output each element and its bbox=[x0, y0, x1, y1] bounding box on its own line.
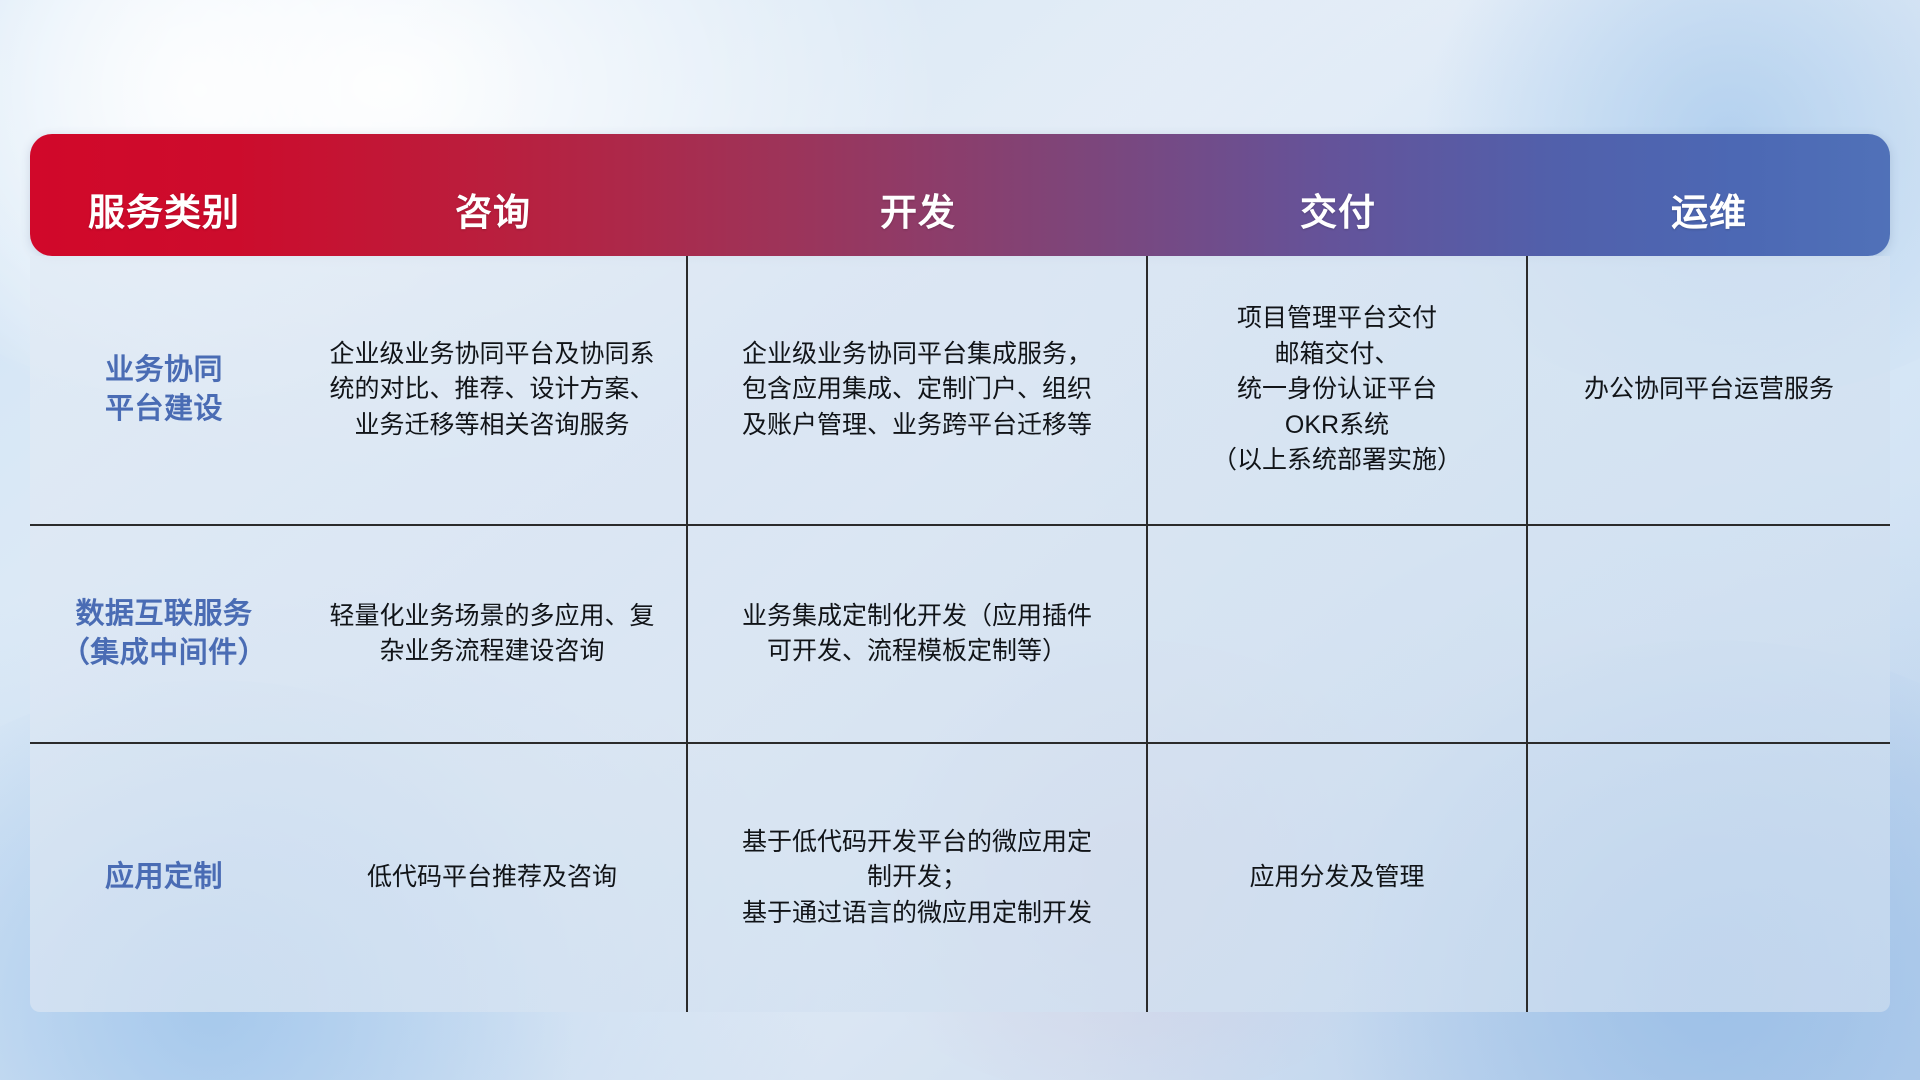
column-header-consulting: 咨询 bbox=[298, 134, 688, 256]
cell-operations-row1: 办公协同平台运营服务 bbox=[1528, 256, 1890, 524]
column-header-development: 开发 bbox=[688, 134, 1148, 256]
cell-category-row3: 应用定制 bbox=[30, 744, 298, 1012]
cell-development-row1: 企业级业务协同平台集成服务， 包含应用集成、定制门户、组织 及账户管理、业务跨平… bbox=[688, 256, 1148, 524]
cell-development-row2: 业务集成定制化开发（应用插件 可开发、流程模板定制等） bbox=[688, 526, 1148, 742]
cell-consulting-row2: 轻量化业务场景的多应用、复 杂业务流程建设咨询 bbox=[298, 526, 688, 742]
table-row: 应用定制 低代码平台推荐及咨询 基于低代码开发平台的微应用定 制开发； 基于通过… bbox=[30, 744, 1890, 1012]
cell-delivery-row2 bbox=[1148, 526, 1528, 742]
cell-delivery-row3: 应用分发及管理 bbox=[1148, 744, 1528, 1012]
cell-category-row2: 数据互联服务 （集成中间件） bbox=[30, 526, 298, 742]
column-header-operations: 运维 bbox=[1528, 134, 1890, 256]
service-matrix-table: 服务类别 咨询 开发 交付 运维 业务协同 平台建设 企业级业务协同平台及协同系… bbox=[30, 134, 1890, 1012]
column-header-delivery: 交付 bbox=[1148, 134, 1528, 256]
cell-category-row1: 业务协同 平台建设 bbox=[30, 256, 298, 524]
cell-operations-row3 bbox=[1528, 744, 1890, 1012]
slide-canvas: 服务类别 咨询 开发 交付 运维 业务协同 平台建设 企业级业务协同平台及协同系… bbox=[0, 0, 1920, 1080]
cell-consulting-row3: 低代码平台推荐及咨询 bbox=[298, 744, 688, 1012]
cell-consulting-row1: 企业级业务协同平台及协同系 统的对比、推荐、设计方案、 业务迁移等相关咨询服务 bbox=[298, 256, 688, 524]
cell-operations-row2 bbox=[1528, 526, 1890, 742]
table-row: 业务协同 平台建设 企业级业务协同平台及协同系 统的对比、推荐、设计方案、 业务… bbox=[30, 256, 1890, 526]
cell-development-row3: 基于低代码开发平台的微应用定 制开发； 基于通过语言的微应用定制开发 bbox=[688, 744, 1148, 1012]
table-row: 数据互联服务 （集成中间件） 轻量化业务场景的多应用、复 杂业务流程建设咨询 业… bbox=[30, 526, 1890, 744]
table-body: 业务协同 平台建设 企业级业务协同平台及协同系 统的对比、推荐、设计方案、 业务… bbox=[30, 256, 1890, 1012]
column-header-category: 服务类别 bbox=[30, 134, 298, 256]
table-header-row: 服务类别 咨询 开发 交付 运维 bbox=[30, 134, 1890, 256]
cell-delivery-row1: 项目管理平台交付 邮箱交付、 统一身份认证平台 OKR系统 （以上系统部署实施） bbox=[1148, 256, 1528, 524]
